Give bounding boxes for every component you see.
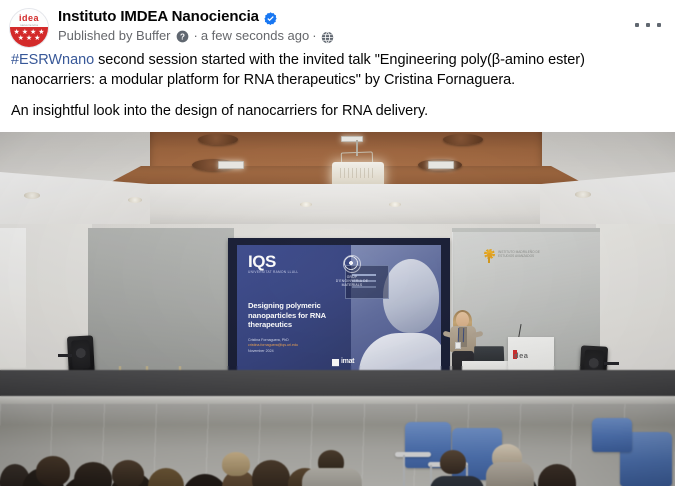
lectern-imdea-logo: dea (514, 351, 528, 360)
more-dot-2 (646, 23, 650, 27)
audience-body-6 (430, 476, 484, 486)
audience-head-13 (222, 452, 250, 476)
page-name[interactable]: Instituto IMDEA Nanociencia (58, 9, 259, 25)
header-text-block: Instituto IMDEA Nanociencia Published by… (58, 8, 665, 43)
post-more-options-button[interactable] (635, 18, 661, 32)
loudspeaker-left-bracket (58, 354, 72, 357)
slide-title: Designing polymeric nanoparticles for RN… (248, 301, 342, 330)
slide-iqs-logo: IQS (248, 253, 276, 270)
avatar[interactable]: idea nanociencia ★ ★ ★ ★ ★ ★ ★ (9, 8, 49, 48)
sunflower-center (487, 253, 492, 258)
more-dot-3 (657, 23, 661, 27)
slide-photo-head (383, 259, 439, 333)
meta-separator-2: · (312, 28, 316, 43)
audience-body-7 (486, 462, 534, 486)
avatar-subtitle: nanociencia (10, 23, 48, 27)
slide-imat-logo: imat (341, 358, 354, 365)
imdea-sunflower-icon (483, 249, 495, 263)
facebook-post: idea nanociencia ★ ★ ★ ★ ★ ★ ★ Instituto… (0, 0, 675, 479)
presenter-head (456, 312, 469, 327)
audience-head-17 (440, 450, 466, 474)
audience-body-8 (302, 468, 362, 486)
ceiling-light-2 (428, 161, 454, 169)
lectern-logo-dea: dea (514, 351, 528, 360)
downlight-3 (389, 202, 401, 207)
presenter-badge (455, 342, 461, 349)
stage-step-edge (0, 396, 675, 404)
wall-institution-text: INSTITUTO MADRILEÑO DE ESTUDIOS AVANZADO… (498, 250, 550, 259)
ceiling-speaker-3 (443, 134, 483, 145)
chair-leg-2 (403, 455, 405, 486)
svg-text:?: ? (180, 32, 185, 41)
avatar-stars-row-2: ★ ★ ★ (10, 36, 48, 42)
slide-author-date: November 2024 (248, 349, 344, 354)
question-mark-icon[interactable]: ? (176, 30, 189, 43)
downlight-4 (575, 191, 591, 198)
ceiling-speaker-1 (198, 134, 238, 145)
hashtag-link[interactable]: #ESRWnano (11, 52, 94, 68)
slide-molecule-logo-caption: GRUP D'ENGINYERIA DE MATERIALS (335, 275, 369, 287)
page-name-row: Instituto IMDEA Nanociencia (58, 9, 665, 25)
stage-step-riser (0, 370, 675, 398)
slide-author-block: Cristina Fornaguera, PhD cristina.fornag… (248, 338, 344, 354)
downlight-5 (24, 192, 40, 199)
ceiling-light-1 (218, 161, 244, 169)
avatar-wordmark-dea: dea (22, 13, 39, 23)
published-by-label: Published by Buffer (58, 28, 171, 43)
post-body: #ESRWnano second session started with th… (0, 46, 675, 121)
globe-icon[interactable] (321, 31, 334, 44)
wall-panel-left (88, 228, 234, 374)
presenter-arm-right (472, 331, 484, 339)
downlight-1 (128, 197, 142, 203)
window-left (0, 228, 26, 368)
post-timestamp[interactable]: a few seconds ago (201, 28, 309, 43)
chair-r4 (592, 418, 632, 452)
projection-screen: IQS UNIVERSITAT RAMON LLULL GRUP D'ENGIN… (237, 245, 441, 373)
post-header: idea nanociencia ★ ★ ★ ★ ★ ★ ★ Instituto… (0, 0, 675, 46)
chair-armrest-2 (395, 452, 431, 457)
meta-separator-1: · (194, 28, 198, 43)
post-paragraph-1: #ESRWnano second session started with th… (11, 50, 664, 90)
avatar-stars: ★ ★ ★ ★ ★ ★ ★ (10, 30, 48, 42)
more-dot-1 (635, 23, 639, 27)
downlight-2 (300, 202, 312, 207)
audience-head-7 (112, 460, 144, 486)
loudspeaker-right-bracket (604, 362, 619, 365)
post-paragraph-2: An insightful look into the design of na… (11, 101, 664, 121)
presenter-lanyard (458, 328, 464, 342)
verified-badge-icon (264, 12, 277, 25)
slide-iqs-sublogo: UNIVERSITAT RAMON LLULL (248, 270, 298, 274)
wall-right (596, 224, 675, 376)
post-meta-row: Published by Buffer ? · a few seconds ag… (58, 28, 665, 43)
post-image[interactable]: INSTITUTO MADRILEÑO DE ESTUDIOS AVANZADO… (0, 132, 675, 486)
slide-molecule-logo-icon (340, 252, 362, 274)
avatar-wordmark: idea (10, 14, 48, 23)
audience-head-4 (36, 456, 70, 486)
post-paragraph-1-text: second session started with the invited … (11, 52, 585, 88)
chandelier (327, 140, 387, 190)
